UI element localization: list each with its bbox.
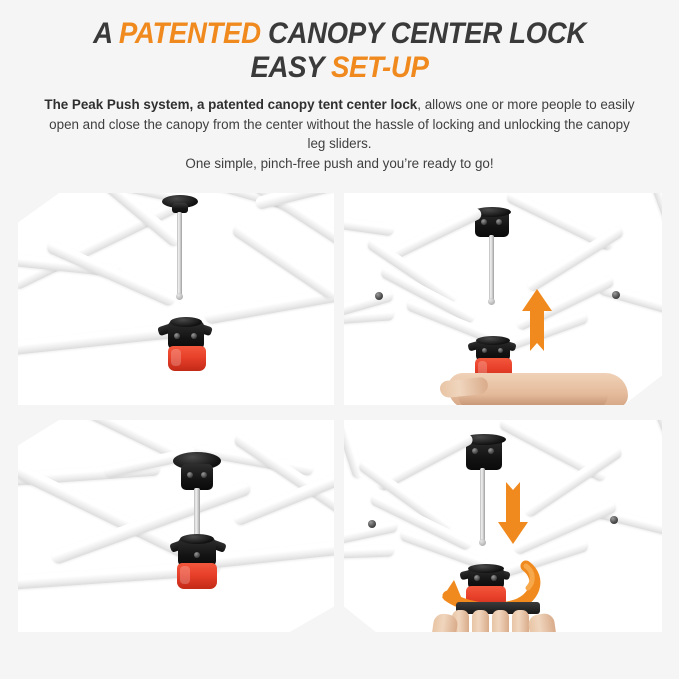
hand-open-palm <box>440 369 630 405</box>
panel-grid <box>0 190 679 660</box>
headline-text-c: EASY <box>251 51 332 84</box>
frame-tube <box>344 213 394 236</box>
panel-top-left <box>18 193 334 405</box>
hub-bolt <box>194 552 200 558</box>
frame-tube <box>642 193 662 273</box>
frame-joint <box>610 516 618 524</box>
hands-gripping <box>430 602 560 632</box>
hub-bolt <box>496 219 502 225</box>
frame-tube <box>18 563 192 591</box>
headline-text-a: A <box>93 17 119 50</box>
frame-joint <box>368 520 376 528</box>
hub-top-plate <box>476 336 510 345</box>
infographic-page: A PATENTED CANOPY CENTER LOCK EASY SET-U… <box>0 0 679 679</box>
headline-highlight-patented: PATENTED <box>119 17 261 50</box>
hub-bolt <box>498 348 503 353</box>
push-rod-tip <box>488 298 495 305</box>
push-rod-tip <box>479 539 486 546</box>
header-block: A PATENTED CANOPY CENTER LOCK EASY SET-U… <box>0 0 679 173</box>
headline-highlight-setup: SET-UP <box>331 51 428 84</box>
push-rod-tip <box>176 293 183 300</box>
arrow-down-icon <box>496 482 530 544</box>
frame-tube <box>231 223 334 301</box>
headline-text-b: CANOPY CENTER LOCK <box>261 17 586 50</box>
finger <box>492 610 509 632</box>
canopy-scene-unlocked <box>18 193 334 405</box>
push-rod <box>194 488 200 538</box>
headline-line-1: A PATENTED CANOPY CENTER LOCK <box>51 18 628 49</box>
canopy-scene-twist-down <box>344 420 662 632</box>
frame-tube <box>45 239 176 307</box>
headline-line-2: EASY SET-UP <box>51 52 628 83</box>
panel-bottom-right <box>344 420 662 632</box>
hub-bolt <box>481 219 487 225</box>
hub-bolt <box>488 448 494 454</box>
panel-bottom-left <box>18 420 334 632</box>
finger <box>472 610 489 632</box>
hub-bolt <box>174 333 180 339</box>
hub-bolt <box>201 472 207 478</box>
canopy-scene-push-up <box>344 193 662 405</box>
push-rod <box>177 212 182 296</box>
description-paragraph: The Peak Push system, a patented canopy … <box>40 95 640 173</box>
frame-tube <box>206 537 334 569</box>
center-lock-top-hub <box>181 464 213 490</box>
description-bold-lead: The Peak Push system, a patented canopy … <box>44 97 417 112</box>
panel-top-right <box>344 193 662 405</box>
hub-bolt <box>482 348 487 353</box>
frame-joint <box>612 291 620 299</box>
hub-bolt <box>191 333 197 339</box>
arrow-up-icon <box>520 289 554 351</box>
hub-top-plate <box>170 317 202 327</box>
red-collar-highlight <box>171 349 181 366</box>
hub-bolt <box>187 472 193 478</box>
hub-top-plate <box>180 534 214 544</box>
finger <box>512 610 529 632</box>
frame-tube <box>344 545 394 560</box>
red-collar-highlight <box>180 566 190 584</box>
hub-bolt <box>472 448 478 454</box>
canopy-scene-locked <box>18 420 334 632</box>
frame-joint <box>375 292 383 300</box>
hand-right-edge <box>527 612 558 632</box>
push-rod <box>480 468 485 542</box>
push-rod <box>489 235 494 301</box>
palm-shadow <box>458 395 608 405</box>
frame-tube <box>644 420 662 498</box>
description-closing: One simple, pinch-free push and you’re r… <box>185 156 493 171</box>
